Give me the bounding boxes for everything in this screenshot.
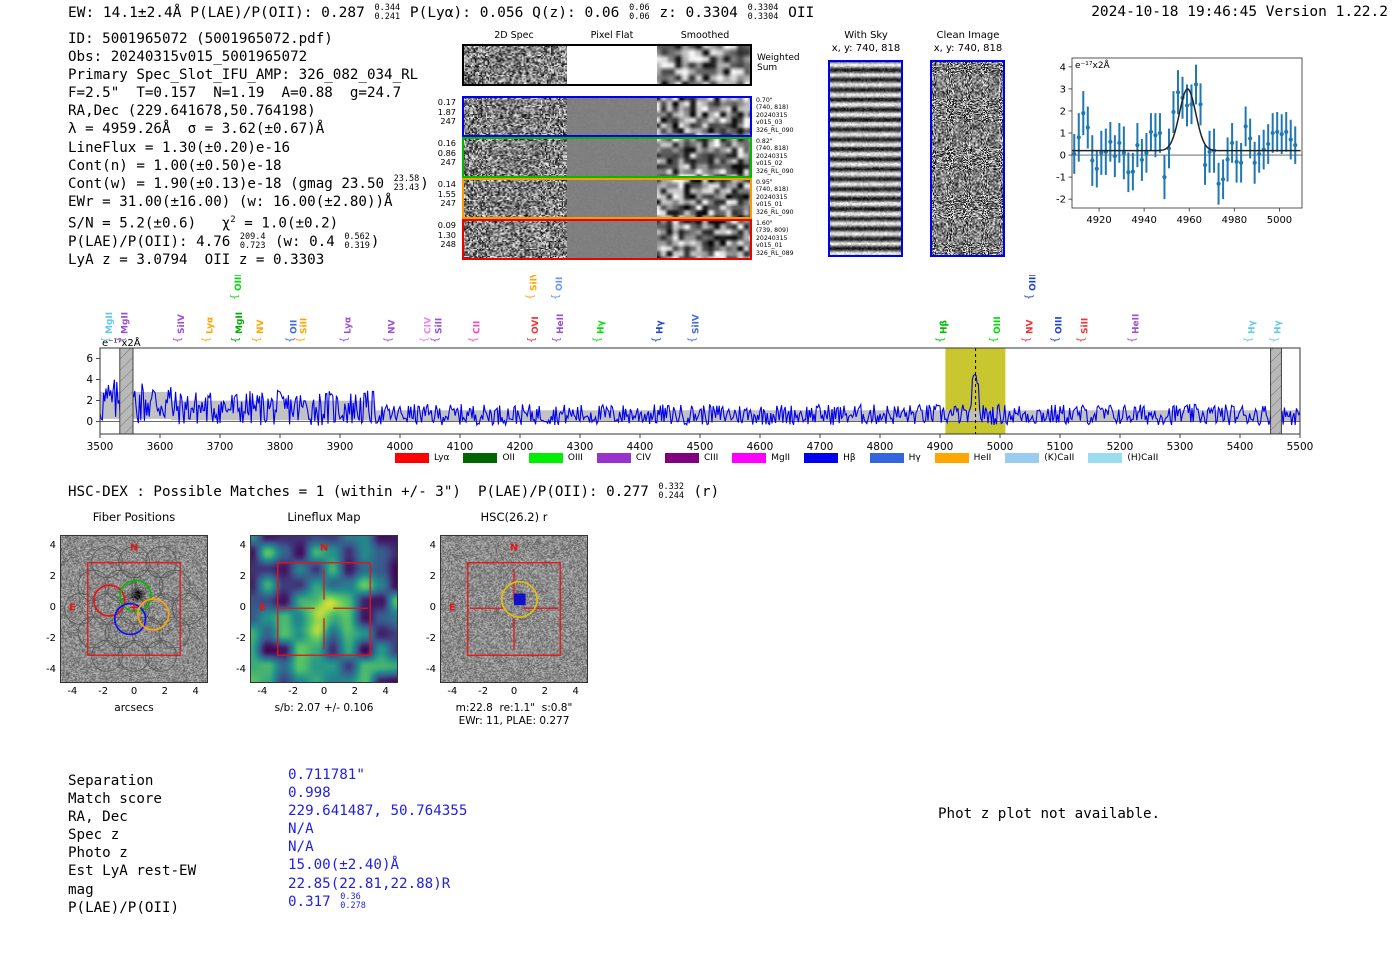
svg-text:3900: 3900: [327, 441, 354, 453]
match-table-key: RA, Dec: [68, 808, 196, 826]
svg-text:OIII: OIII: [1028, 275, 1038, 291]
legend-item: Hβ: [804, 453, 856, 463]
svg-text:E: E: [259, 603, 266, 614]
legend-swatch: [870, 453, 904, 463]
svg-text:4200: 4200: [507, 441, 534, 453]
legend-label: (H)CaII: [1127, 453, 1158, 463]
svg-text:SiIV: SiIV: [530, 275, 540, 291]
svg-text:4400: 4400: [627, 441, 654, 453]
spectrum-line-label: {OIII: [988, 316, 1003, 343]
svg-text:4800: 4800: [867, 441, 894, 453]
legend-item: MgII: [732, 453, 790, 463]
hsc-panel-overlay-1: NE: [250, 535, 398, 683]
svg-text:4100: 4100: [447, 441, 474, 453]
svg-text:Lyα: Lyα: [206, 317, 216, 334]
spec2d-column-title-0: 2D Spec: [469, 30, 559, 41]
svg-text:{: {: [550, 294, 561, 300]
svg-text:Hγ: Hγ: [596, 320, 606, 334]
svg-text:{: {: [1050, 337, 1061, 343]
svg-text:{: {: [430, 337, 441, 343]
svg-text:0: 0: [86, 416, 93, 428]
hsc-ytick: 0: [416, 602, 436, 613]
svg-text:3600: 3600: [147, 441, 174, 453]
svg-text:2: 2: [1060, 106, 1066, 117]
svg-text:5100: 5100: [1047, 441, 1074, 453]
svg-text:N: N: [510, 542, 518, 553]
svg-text:5400: 5400: [1227, 441, 1254, 453]
legend-label: HeII: [974, 453, 992, 463]
match-table-values: 0.711781"0.998229.641487, 50.764355N/AN/…: [288, 766, 467, 911]
spectrum-line-label: {NV: [383, 319, 398, 343]
hsc-xtick: -2: [283, 686, 303, 697]
sup-sub-pair: 0.33040.3304: [748, 4, 779, 22]
spectrum-line-label: {Hγ: [651, 320, 666, 343]
hsc-ytick: 2: [416, 571, 436, 582]
spectrum-line-label: {HeII: [552, 314, 567, 343]
svg-text:CII: CII: [473, 321, 483, 334]
hsc-ytick: 4: [36, 540, 56, 551]
legend-label: Hβ: [843, 453, 856, 463]
spectrum-line-label: {OIII: [229, 275, 244, 300]
svg-text:{: {: [419, 337, 430, 343]
match-table-value: 0.998: [288, 784, 467, 802]
spectrum-line-label: {Hγ: [1269, 320, 1284, 343]
spectrum-line-label: {OVI: [526, 316, 541, 343]
svg-text:{: {: [526, 337, 537, 343]
hsc-xtick: 4: [566, 686, 586, 697]
spectrum-line-label: {Hγ: [1243, 320, 1258, 343]
svg-text:3: 3: [1060, 84, 1066, 95]
svg-text:3700: 3700: [207, 441, 234, 453]
spectrum-line-label: {OII: [550, 277, 565, 300]
legend-swatch: [804, 453, 838, 463]
sub-value: 0.3304: [748, 13, 779, 22]
units-label: e⁻¹⁷x2Å: [1075, 59, 1111, 71]
sup-sub-pair: 0.3440.241: [375, 4, 401, 22]
legend-label: CIV: [636, 453, 651, 463]
weighted-sum-label: Weighted Sum: [757, 54, 817, 73]
hsc-ytick: -4: [36, 664, 56, 675]
svg-text:3800: 3800: [267, 441, 294, 453]
hsc-xtick: 0: [124, 686, 144, 697]
svg-text:2: 2: [86, 395, 93, 407]
svg-text:{: {: [201, 337, 212, 343]
full-spectrum-svg: 3500360037003800390040004100420043004400…: [0, 275, 1400, 475]
spectrum-line-label: {NV: [1021, 319, 1036, 343]
hscdex-panel-group: Fiber PositionsNE-4-2024420-2-4arcsecsLi…: [0, 505, 700, 745]
hsc-xtick: 4: [186, 686, 206, 697]
svg-text:4500: 4500: [687, 441, 714, 453]
info-line: F=2.5" T=0.157 N=1.19 A=0.88 g=24.7: [68, 84, 429, 102]
legend-swatch: [1005, 453, 1039, 463]
ewr-line: EWr = 31.00(±16.00) (w: 16.00(±2.80))Å: [68, 193, 429, 211]
info-line: Primary Spec_Slot_IFU_AMP: 326_082_034_R…: [68, 66, 429, 84]
hsc-ytick: -2: [36, 633, 56, 644]
sky-panel-title: Clean Image x, y: 740, 818: [908, 30, 1028, 55]
svg-text:SiIV: SiIV: [692, 314, 702, 334]
svg-text:{: {: [1076, 337, 1087, 343]
match-table-value: N/A: [288, 820, 467, 838]
spectrum-line-label: {Lyα: [201, 317, 216, 343]
full-spectrum-plot: 3500360037003800390040004100420043004400…: [0, 275, 1400, 475]
svg-text:MgII: MgII: [235, 312, 245, 334]
svg-text:{: {: [295, 337, 306, 343]
photz-message: Phot z plot not available.: [938, 806, 1160, 822]
svg-text:NV: NV: [256, 319, 266, 334]
legend-item: HeII: [935, 453, 992, 463]
spec2d-row-stats: 0.16 0.86 247: [400, 139, 456, 168]
svg-text:HeII: HeII: [556, 314, 566, 334]
svg-text:E: E: [449, 603, 456, 614]
match-table-value: 0.317 0.360.278: [288, 893, 467, 911]
legend-swatch: [395, 453, 429, 463]
legend-swatch: [732, 453, 766, 463]
sub-value: 0.723: [240, 242, 266, 251]
svg-text:N: N: [320, 542, 328, 553]
spectrum-line-label: {MgII: [231, 312, 246, 343]
svg-text:CIV: CIV: [424, 317, 434, 334]
svg-text:Hγ: Hγ: [656, 320, 666, 334]
summary-header: EW: 14.1±2.4Å P(LAE)/P(OII): 0.287 0.344…: [68, 4, 814, 22]
spectrum-line-label: {Hβ: [935, 319, 950, 343]
spec2d-column-title-2: Smoothed: [660, 30, 750, 41]
svg-text:5000: 5000: [1267, 215, 1292, 226]
sky-image-group: With Sky x, y: 740, 818Clean Image x, y:…: [820, 30, 1020, 258]
svg-text:{: {: [383, 337, 394, 343]
spectrum-line-label: {OIII: [1050, 316, 1065, 343]
svg-text:{: {: [339, 337, 350, 343]
svg-text:-1: -1: [1056, 173, 1066, 184]
svg-text:4940: 4940: [1131, 215, 1156, 226]
spec2d-row-stats: 0.09 1.30 248: [400, 221, 456, 250]
svg-text:{: {: [229, 294, 240, 300]
svg-text:Lyα: Lyα: [344, 317, 354, 334]
hsc-ytick: 2: [226, 571, 246, 582]
svg-text:4300: 4300: [567, 441, 594, 453]
legend-swatch: [935, 453, 969, 463]
legend-swatch: [597, 453, 631, 463]
emission-line-plot: 49204940496049805000-2-101234e⁻¹⁷x2Å: [1036, 48, 1308, 238]
spec2d-row: [462, 219, 752, 260]
spectrum-line-label: {OIII: [1024, 275, 1039, 300]
legend-swatch: [665, 453, 699, 463]
info-line: ID: 5001965072 (5001965072.pdf): [68, 30, 429, 48]
svg-text:5000: 5000: [987, 441, 1014, 453]
svg-text:OII: OII: [290, 320, 300, 334]
match-table-key: mag: [68, 881, 196, 899]
svg-text:Hβ: Hβ: [940, 319, 950, 334]
match-table-value: 0.711781": [288, 766, 467, 784]
info-line: Cont(n) = 1.00(±0.50)e-18: [68, 157, 429, 175]
svg-text:NV: NV: [388, 319, 398, 334]
legend-item: CIII: [665, 453, 718, 463]
spectrum-line-label: {SiII: [1076, 318, 1091, 343]
svg-text:4000: 4000: [387, 441, 414, 453]
legend-label: (K)CaII: [1044, 453, 1074, 463]
svg-text:{: {: [592, 337, 603, 343]
legend-label: Hγ: [909, 453, 921, 463]
svg-text:4920: 4920: [1086, 215, 1111, 226]
hsc-ytick: -4: [416, 664, 436, 675]
hsc-ytick: -4: [226, 664, 246, 675]
sub-value: 0.06: [629, 13, 649, 22]
svg-text:SiII: SiII: [1081, 318, 1091, 334]
svg-text:MgII: MgII: [105, 312, 115, 334]
spectrum-line-label: {Lyα: [339, 317, 354, 343]
hsc-ytick: 4: [226, 540, 246, 551]
hsc-xtick: -2: [473, 686, 493, 697]
hscdex-header: HSC-DEX : Possible Matches = 1 (within +…: [68, 483, 719, 501]
sub-value: 0.278: [340, 902, 366, 911]
hsc-xtick: 0: [314, 686, 334, 697]
spec2d-row-meta: 0.95" (740, 818) 20240315 v015_01 326_RL…: [756, 179, 826, 216]
legend-swatch: [1088, 453, 1122, 463]
spectrum-line-label: {HeII: [1127, 314, 1142, 343]
info-line: Obs: 20240315v015_5001965072: [68, 48, 429, 66]
legend-label: OII: [502, 453, 514, 463]
svg-text:{: {: [1269, 337, 1280, 343]
spec2d-column-title-1: Pixel Flat: [567, 30, 657, 41]
svg-text:OIII: OIII: [234, 275, 244, 291]
hsc-xtick: -2: [93, 686, 113, 697]
object-info-block: ID: 5001965072 (5001965072.pdf)Obs: 2024…: [68, 30, 429, 269]
legend-item: (H)CaII: [1088, 453, 1158, 463]
emission-line-svg: 49204940496049805000-2-101234e⁻¹⁷x2Å: [1036, 48, 1308, 238]
svg-text:4960: 4960: [1177, 215, 1202, 226]
sub-value: 0.244: [658, 492, 684, 501]
svg-text:OVI: OVI: [531, 316, 541, 334]
hsc-ytick: 0: [36, 602, 56, 613]
legend-label: OIII: [568, 453, 583, 463]
svg-text:E: E: [69, 603, 76, 614]
svg-text:{: {: [100, 337, 111, 343]
svg-text:HeII: HeII: [1132, 314, 1142, 334]
spec2d-row-meta: 0.70" (740, 818) 20240315 v015_03 326_RL…: [756, 97, 826, 134]
svg-text:NV: NV: [1025, 319, 1035, 334]
legend-item: OIII: [529, 453, 583, 463]
hsc-panel-title: Lineflux Map: [220, 510, 428, 524]
svg-text:{: {: [935, 337, 946, 343]
spec2d-row: [462, 137, 752, 178]
match-table-key: P(LAE)/P(OII): [68, 899, 196, 917]
svg-text:{: {: [988, 337, 999, 343]
svg-text:SiII: SiII: [434, 318, 444, 334]
legend-item: (K)CaII: [1005, 453, 1074, 463]
hsc-ytick: 4: [416, 540, 436, 551]
svg-text:-2: -2: [1056, 195, 1066, 206]
cont-w-line: Cont(w) = 1.90(±0.13)e-18 (gmag 23.50 23…: [68, 175, 429, 193]
match-table-keys: SeparationMatch scoreRA, DecSpec zPhoto …: [68, 772, 196, 917]
spec2d-row-stats: 0.14 1.55 247: [400, 180, 456, 209]
spectrum-line-label: {NV: [252, 319, 267, 343]
hsc-xtick: -4: [442, 686, 462, 697]
weighted-sum-row: [462, 44, 752, 86]
svg-text:{: {: [1127, 337, 1138, 343]
hsc-panel-title: Fiber Positions: [30, 510, 238, 524]
spec2d-row: [462, 96, 752, 137]
hsc-panel-overlay-0: NE: [60, 535, 208, 683]
hsc-xtick: 2: [155, 686, 175, 697]
sup-sub-pair: 0.060.06: [629, 4, 649, 22]
svg-text:4600: 4600: [747, 441, 774, 453]
info-line: RA,Dec (229.641678,50.764198): [68, 102, 429, 120]
legend-swatch: [463, 453, 497, 463]
svg-text:SiIV: SiIV: [177, 314, 187, 334]
svg-text:SiII: SiII: [299, 318, 309, 334]
svg-text:4900: 4900: [927, 441, 954, 453]
sup-sub-pair: 0.360.278: [340, 893, 366, 911]
redshift-line: LyA z = 3.0794 OII z = 0.3303: [68, 251, 429, 269]
spec2d-row-stats: 0.17 1.87 247: [400, 98, 456, 127]
svg-text:5200: 5200: [1107, 441, 1134, 453]
svg-text:3500: 3500: [87, 441, 114, 453]
info-line: LineFlux = 1.30(±0.20)e-16: [68, 139, 429, 157]
legend-item: Lyα: [395, 453, 449, 463]
hsc-xtick: 2: [345, 686, 365, 697]
svg-text:{: {: [172, 337, 183, 343]
match-table-key: Spec z: [68, 826, 196, 844]
hsc-panel-title: HSC(26.2) r: [410, 510, 618, 524]
svg-text:4: 4: [86, 374, 93, 386]
hsc-xtick: -4: [62, 686, 82, 697]
legend-item: OII: [463, 453, 514, 463]
hsc-panel-caption: m:22.8 re:1.1" s:0.8" EWr: 11, PLAE: 0.2…: [400, 702, 628, 728]
svg-text:{: {: [1024, 294, 1035, 300]
match-table-key: Separation: [68, 772, 196, 790]
svg-text:5300: 5300: [1167, 441, 1194, 453]
svg-text:{: {: [231, 337, 242, 343]
match-table-key: Est LyA rest-EW: [68, 862, 196, 880]
sup-sub-pair: 0.5620.319: [344, 233, 370, 251]
match-table-value: N/A: [288, 838, 467, 856]
svg-text:Hγ: Hγ: [1247, 320, 1257, 334]
svg-text:N: N: [130, 542, 138, 553]
plae-ratio-line: P(LAE)/P(OII): 4.76 209.40.723 (w: 0.4 0…: [68, 233, 429, 251]
legend-item: CIV: [597, 453, 651, 463]
match-table-key: Photo z: [68, 844, 196, 862]
hsc-panel-overlay-2: NE: [440, 535, 588, 683]
svg-text:OIII: OIII: [1055, 316, 1065, 334]
svg-text:4980: 4980: [1222, 215, 1247, 226]
hsc-xtick: 0: [504, 686, 524, 697]
svg-text:{: {: [1243, 337, 1254, 343]
hsc-xtick: 2: [535, 686, 555, 697]
hsc-ytick: 0: [226, 602, 246, 613]
svg-text:Hγ: Hγ: [1274, 320, 1284, 334]
hsc-ytick: -2: [226, 633, 246, 644]
svg-text:{: {: [651, 337, 662, 343]
with-sky-image: [828, 60, 903, 257]
hsc-ytick: -2: [416, 633, 436, 644]
sup-sub-pair: 0.3320.244: [658, 483, 684, 501]
svg-text:4: 4: [1060, 62, 1066, 73]
spectrum-line-label: {SiIV: [525, 275, 540, 300]
svg-text:{: {: [116, 337, 127, 343]
sub-value: 0.319: [344, 242, 370, 251]
spectrum-legend: LyαOIIOIIICIVCIIIMgIIHβHγHeII(K)CaII(H)C…: [395, 453, 1172, 463]
spec2d-row: [462, 178, 752, 219]
svg-text:MgII: MgII: [121, 312, 131, 334]
match-table-value: 229.641487, 50.764355: [288, 802, 467, 820]
legend-label: Lyα: [434, 453, 449, 463]
spec2d-row-meta: 0.82" (740, 818) 20240315 v015_02 326_RL…: [756, 138, 826, 175]
svg-text:{: {: [525, 294, 536, 300]
clean-image: [930, 60, 1005, 257]
match-table-value: 22.85(22.81,22.88)R: [288, 875, 467, 893]
hsc-ytick: 2: [36, 571, 56, 582]
legend-item: Hγ: [870, 453, 921, 463]
svg-text:OIII: OIII: [993, 316, 1003, 334]
svg-text:{: {: [552, 337, 563, 343]
spec2d-panel-group: 2D SpecPixel FlatSmoothedWeighted Sum0.1…: [400, 30, 770, 258]
legend-label: CIII: [704, 453, 718, 463]
sup-sub-pair: 209.40.723: [240, 233, 266, 251]
svg-text:5500: 5500: [1287, 441, 1314, 453]
legend-swatch: [529, 453, 563, 463]
hsc-xtick: -4: [252, 686, 272, 697]
svg-text:6: 6: [86, 353, 93, 365]
spec2d-row-meta: 1.60" (739, 809) 20240315 v015_01 326_RL…: [756, 220, 826, 257]
spectrum-line-label: {CII: [468, 321, 483, 343]
svg-text:{: {: [1021, 337, 1032, 343]
sn-chi2-line: S/N = 5.2(±0.6) χ2 = 1.0(±0.2): [68, 211, 429, 233]
spectrum-line-label: {SiIV: [687, 314, 702, 343]
sub-value: 0.241: [375, 13, 401, 22]
svg-text:4700: 4700: [807, 441, 834, 453]
svg-text:{: {: [468, 337, 479, 343]
timestamp-version: 2024-10-18 19:46:45 Version 1.22.2: [1091, 4, 1388, 20]
match-table-value: 15.00(±2.40)Å: [288, 856, 467, 874]
spectrum-line-label: {Hγ: [592, 320, 607, 343]
svg-text:{: {: [687, 337, 698, 343]
svg-text:OII: OII: [555, 277, 565, 291]
svg-text:1: 1: [1060, 129, 1066, 140]
svg-text:0: 0: [1060, 151, 1066, 162]
info-line: λ = 4959.26Å σ = 3.62(±0.67)Å: [68, 120, 429, 138]
spectrum-line-label: {SiIV: [172, 314, 187, 343]
match-table-key: Match score: [68, 790, 196, 808]
svg-text:{: {: [252, 337, 263, 343]
hsc-xtick: 4: [376, 686, 396, 697]
legend-label: MgII: [771, 453, 790, 463]
